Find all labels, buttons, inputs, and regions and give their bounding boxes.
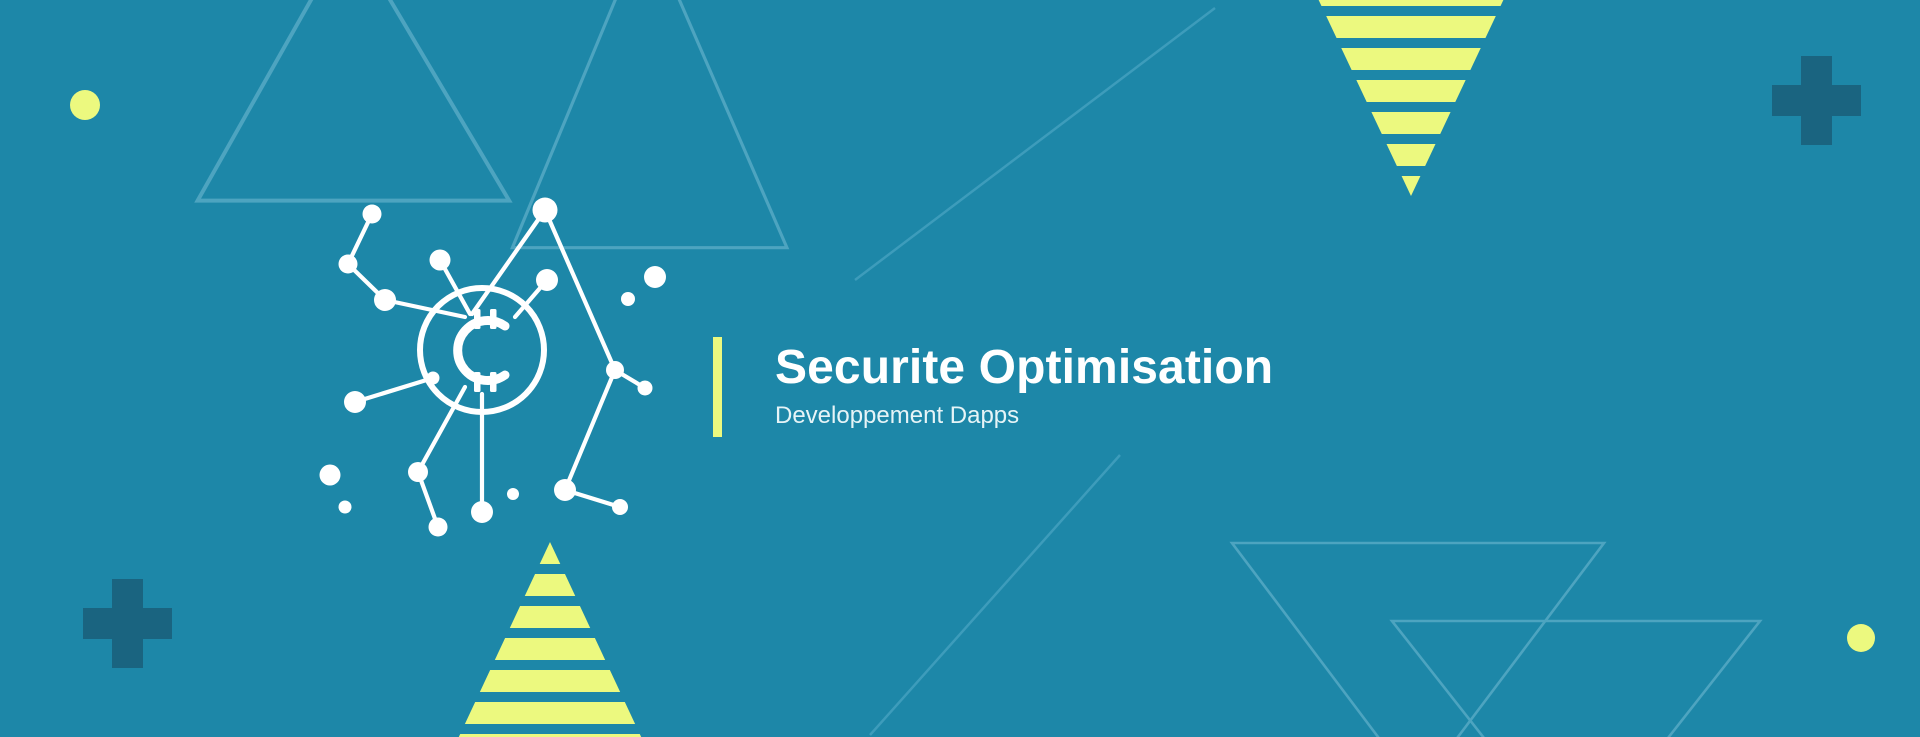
promo-banner: Securite Optimisation Developpement Dapp… (0, 0, 1920, 737)
page-title: Securite Optimisation (775, 343, 1273, 393)
floating-dot (644, 266, 666, 288)
network-edges (348, 210, 645, 527)
node (471, 501, 493, 523)
node (374, 289, 396, 311)
floating-dot (507, 488, 519, 500)
node (429, 518, 448, 537)
page-subtitle: Developpement Dapps (775, 402, 1273, 431)
floating-dot (320, 465, 341, 486)
node (638, 381, 653, 396)
node (612, 499, 628, 515)
node (339, 255, 358, 274)
node (606, 361, 624, 379)
banner-content: Securite Optimisation Developpement Dapp… (0, 0, 1920, 737)
blockchain-network-icon (300, 182, 675, 557)
node (536, 269, 558, 291)
headline-text-column: Securite Optimisation Developpement Dapp… (722, 337, 1273, 437)
node (430, 250, 451, 271)
node (427, 372, 440, 385)
node (533, 198, 558, 223)
floating-dot (621, 292, 635, 306)
node (408, 462, 428, 482)
node (363, 205, 382, 224)
network-nodes (320, 198, 667, 537)
accent-bar (713, 337, 722, 437)
headline-block: Securite Optimisation Developpement Dapp… (713, 337, 1273, 437)
floating-dot (339, 501, 352, 514)
node (554, 479, 576, 501)
coin-symbol-c (458, 309, 505, 392)
node (344, 391, 366, 413)
